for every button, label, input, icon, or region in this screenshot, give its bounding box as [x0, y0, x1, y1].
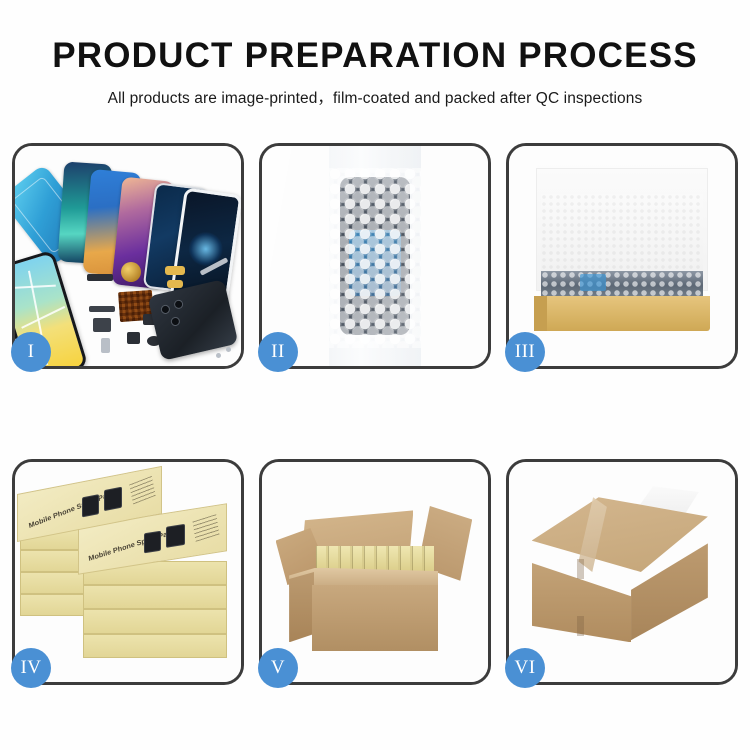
part-flex-strip-1 [89, 306, 115, 312]
step-badge-ii: II [258, 332, 298, 372]
part-flex-cable-2 [167, 280, 183, 288]
step-ii-image [262, 146, 488, 366]
carton-seam-lower [577, 616, 584, 636]
stacked-box-right-4 [83, 609, 228, 633]
step-panel-iv: Mobile Phone Spare Parts Mobile Phone Sp… [12, 459, 244, 685]
box-spec-list-back [129, 476, 155, 505]
box-phone-image-back-1 [82, 493, 99, 517]
step-i-image [15, 146, 241, 366]
stacked-box-right-3 [83, 585, 228, 609]
box-label-text-front: Mobile Phone Spare Parts [88, 527, 177, 563]
scene-carton-sealed [509, 462, 735, 682]
scene-boxes-stacked: Mobile Phone Spare Parts Mobile Phone Sp… [15, 462, 241, 682]
carton-seam-upper [577, 559, 584, 579]
box-spec-list-front [193, 514, 220, 542]
step-panel-iii: III [506, 143, 738, 369]
step-iii-image [509, 146, 735, 366]
scene-inner-box-packing [509, 146, 735, 366]
step-badge-i: I [11, 332, 51, 372]
part-wireless-coil [121, 262, 141, 282]
scene-carton-loading [262, 462, 488, 682]
kraft-box-side [534, 296, 548, 331]
carton-left-side [289, 572, 314, 642]
step-panel-ii: II [259, 143, 491, 369]
plastic-sheen [262, 146, 488, 366]
box-phone-image-front-2 [166, 524, 185, 548]
part-screw-2 [216, 353, 221, 358]
page-subtitle: All products are image-printed，film-coat… [0, 86, 750, 108]
part-flex-cable-1 [165, 266, 185, 275]
scene-bubble-wrap-packing [262, 146, 488, 366]
part-screw-1 [226, 347, 231, 352]
page-title: PRODUCT PREPARATION PROCESS [0, 36, 750, 76]
step-panel-vi: VI [506, 459, 738, 685]
scene-products-and-parts [15, 146, 241, 366]
step-badge-v: V [258, 648, 298, 688]
step-vi-image [509, 462, 735, 682]
step-v-image [262, 462, 488, 682]
phone-lineup [65, 155, 241, 291]
box-phone-image-back-2 [104, 486, 123, 511]
part-flex-strip-2 [93, 318, 111, 332]
header: PRODUCT PREPARATION PROCESS All products… [0, 0, 750, 130]
step-panel-v: V [259, 459, 491, 685]
part-battery-connector [127, 332, 140, 344]
steps-grid: I II [12, 143, 738, 685]
part-button-flex [101, 338, 110, 353]
part-speaker-mesh [87, 274, 113, 281]
step-badge-vi: VI [505, 648, 545, 688]
step-badge-iii: III [505, 332, 545, 372]
stacked-box-right-5 [83, 634, 228, 658]
product-preparation-infographic: PRODUCT PREPARATION PROCESS All products… [0, 0, 750, 750]
box-phone-image-front-1 [144, 530, 162, 553]
carton-front-face [312, 585, 439, 651]
kraft-box-front [534, 296, 710, 331]
step-badge-iv: IV [11, 648, 51, 688]
step-panel-i: I [12, 143, 244, 369]
step-iv-image: Mobile Phone Spare Parts Mobile Phone Sp… [15, 462, 241, 682]
